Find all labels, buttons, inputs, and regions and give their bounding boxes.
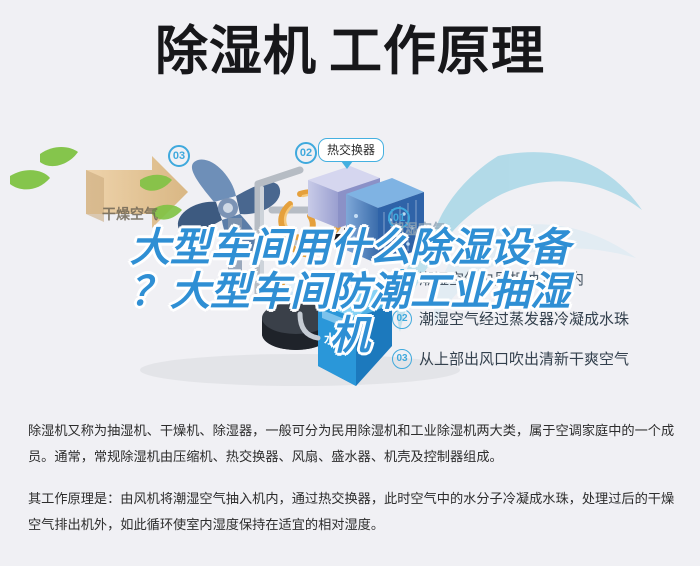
page-header: 除湿机工作原理: [0, 22, 700, 81]
process-step-number: 03: [392, 349, 412, 369]
fan-icon: [178, 159, 280, 276]
process-step-text: 从上部出风口吹出清新干爽空气: [419, 348, 629, 369]
process-step-number: 02: [392, 309, 412, 329]
page-title-part1: 除湿机: [155, 22, 317, 81]
water-tank-label: 水箱: [324, 330, 348, 347]
dry-air-label: 干燥空气: [102, 204, 158, 224]
process-step: 01 潮湿空气由风机抽入机内: [392, 268, 692, 289]
humid-air-label: 潮湿空气: [390, 219, 446, 239]
process-step: 03 从上部出风口吹出清新干爽空气: [392, 348, 692, 369]
process-step: 02 潮湿空气经过蒸发器冷凝成水珠: [392, 308, 692, 329]
article-paragraph: 其工作原理是：由风机将潮湿空气抽入机内，通过热交换器，此时空气中的水分子冷凝成水…: [28, 486, 676, 537]
process-step-number: 01: [392, 269, 412, 289]
process-step-text: 潮湿空气经过蒸发器冷凝成水珠: [419, 308, 629, 329]
diagram-badge-02: 02: [295, 142, 317, 164]
page-root: 除湿机工作原理: [0, 0, 700, 566]
diagram-badge-03: 03: [168, 145, 190, 167]
dehumidifier-diagram: 03 02 01 热交换器 干燥空气 潮湿空气 水箱 01 潮湿空气由风机抽入机…: [0, 118, 700, 410]
article-paragraph: 除湿机又称为抽湿机、干燥机、除湿器，一般可分为民用除湿机和工业除湿机两大类，属于…: [28, 418, 676, 469]
article-body: 除湿机又称为抽湿机、干燥机、除湿器，一般可分为民用除湿机和工业除湿机两大类，属于…: [28, 418, 676, 538]
process-step-text: 潮湿空气由风机抽入机内: [419, 268, 584, 289]
page-title: 除湿机工作原理: [155, 22, 545, 81]
heat-exchanger-callout: 热交换器: [318, 138, 384, 162]
process-steps-list: 01 潮湿空气由风机抽入机内 02 潮湿空气经过蒸发器冷凝成水珠 03 从上部出…: [392, 268, 692, 388]
page-title-part2: 工作原理: [329, 22, 545, 81]
